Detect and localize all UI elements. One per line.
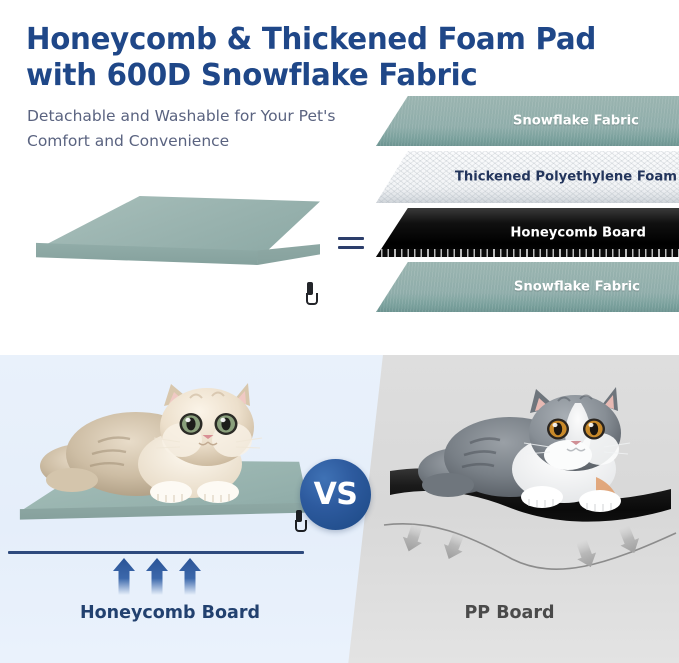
- arrow-up-icon: [178, 557, 202, 595]
- layer-label: Thickened Polyethylene Foam: [455, 170, 677, 185]
- arrow-up-icon: [145, 557, 169, 595]
- arrow-down-icon: [443, 531, 465, 561]
- zipper-icon: [306, 282, 315, 304]
- cat-illustration-left: [40, 380, 290, 505]
- honeycomb-cells-edge: [376, 249, 679, 257]
- product-infographic: Honeycomb & Thickened Foam Pad with 600D…: [0, 0, 679, 663]
- layer-honeycomb-board: Honeycomb Board: [376, 208, 679, 257]
- upward-support-arrows: [112, 557, 202, 597]
- vs-badge: VS: [300, 459, 371, 530]
- right-caption: PP Board: [340, 603, 679, 623]
- cat-illustration-right: [418, 385, 653, 513]
- layer-snowflake-fabric-bottom: Snowflake Fabric: [376, 262, 679, 312]
- layer-stack-diagram: Snowflake Fabric Thickened Polyethylene …: [376, 96, 679, 312]
- downward-pressure-arrows: [380, 523, 679, 573]
- arrow-up-icon: [112, 557, 136, 595]
- page-subtitle: Detachable and Washable for Your Pet's C…: [27, 104, 377, 154]
- layer-breakdown-section: Honeycomb & Thickened Foam Pad with 600D…: [0, 0, 679, 355]
- left-caption: Honeycomb Board: [0, 603, 340, 623]
- arrow-down-icon: [618, 525, 640, 555]
- layer-snowflake-fabric-top: Snowflake Fabric: [376, 96, 679, 146]
- arrow-down-icon: [402, 523, 424, 553]
- equals-bar-top: [338, 237, 364, 240]
- vs-label: VS: [300, 459, 371, 530]
- flat-baseline: [8, 551, 304, 554]
- layer-label: Snowflake Fabric: [513, 114, 639, 129]
- title-line-2: with 600D Snowflake Fabric: [26, 58, 640, 94]
- page-title: Honeycomb & Thickened Foam Pad with 600D…: [26, 22, 640, 94]
- title-line-1: Honeycomb & Thickened Foam Pad: [26, 22, 596, 57]
- zipper-pull: [306, 293, 318, 305]
- layer-polyethylene-foam: Thickened Polyethylene Foam: [376, 151, 679, 203]
- arrow-down-icon: [575, 539, 597, 569]
- equals-icon: [338, 237, 364, 255]
- layer-label: Honeycomb Board: [510, 225, 646, 240]
- layer-label: Snowflake Fabric: [514, 280, 640, 295]
- product-pad-illustration: [10, 196, 335, 311]
- equals-bar-bottom: [338, 246, 364, 249]
